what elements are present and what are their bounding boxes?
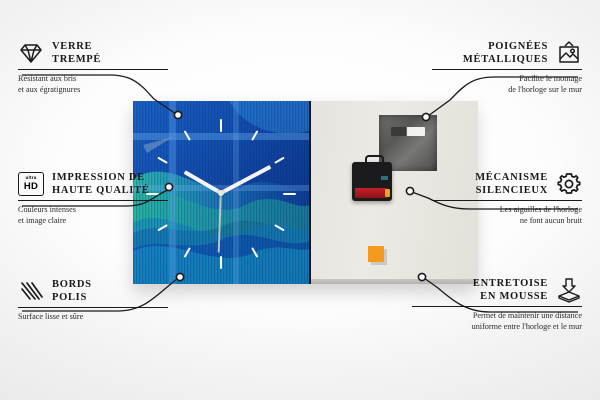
divider (18, 69, 168, 70)
feature-verre-trempe[interactable]: VERRE TREMPÉ Résistant aux bris et aux é… (18, 40, 168, 95)
movement-chip (381, 176, 388, 180)
feature-header: ENTRETOISE EN MOUSSE (412, 277, 582, 303)
divider (18, 200, 168, 201)
product-photo (133, 101, 476, 284)
polished-edge-icon (18, 278, 44, 304)
feature-header: BORDS POLIS (18, 278, 168, 304)
divider (412, 306, 582, 307)
feature-desc-line1: Couleurs intenses (18, 205, 168, 216)
battery-positive-terminal (385, 189, 390, 197)
divider (18, 307, 168, 308)
feature-desc-line2: et image claire (18, 216, 168, 227)
feature-desc-line1: Permet de maintenir une distance (412, 311, 582, 322)
feature-title: IMPRESSION DE HAUTE QUALITÉ (52, 171, 150, 197)
feature-desc-line1: Résistant aux bris (18, 74, 168, 85)
feature-mecanisme-silencieux[interactable]: MÉCANISME SILENCIEUX Les aiguilles de l'… (432, 171, 582, 226)
feature-title: VERRE TREMPÉ (52, 40, 101, 66)
infographic-canvas: VERRE TREMPÉ Résistant aux bris et aux é… (0, 0, 600, 400)
feature-header: VERRE TREMPÉ (18, 40, 168, 66)
feature-title: ENTRETOISE EN MOUSSE (473, 277, 548, 303)
feature-entretoise-en-mousse[interactable]: ENTRETOISE EN MOUSSE Permet de maintenir… (412, 277, 582, 332)
feature-desc-line2: uniforme entre l'horloge et le mur (412, 322, 582, 333)
clock-tick (220, 119, 222, 194)
ultra-hd-icon-main-text: HD (24, 182, 38, 192)
feature-title: POIGNÉES MÉTALLIQUES (463, 40, 548, 66)
battery (355, 188, 387, 198)
feature-desc-line1: Les aiguilles de l'horloge (432, 205, 582, 216)
divider (432, 200, 582, 201)
feature-desc-line2: de l'horloge sur le mur (432, 85, 582, 96)
feature-impression-haute-qualite[interactable]: ultra HD IMPRESSION DE HAUTE QUALITÉ Cou… (18, 171, 168, 226)
hanger-slot (391, 127, 425, 136)
clock-center-hub (218, 190, 224, 196)
feature-desc-line1: Surface lisse et sûre (18, 312, 168, 323)
diamond-icon (18, 40, 44, 66)
divider (432, 69, 582, 70)
movement-hanging-loop (365, 155, 384, 166)
picture-frame-hook-icon (556, 40, 582, 66)
feature-title: BORDS POLIS (52, 278, 92, 304)
feature-desc-line1: Facilite le montage (432, 74, 582, 85)
ultra-hd-icon: ultra HD (18, 172, 44, 196)
foam-spacer-icon (556, 277, 582, 303)
feature-title: MÉCANISME SILENCIEUX (475, 171, 548, 197)
feature-poignees-metalliques[interactable]: POIGNÉES MÉTALLIQUES Facilite le montage… (432, 40, 582, 95)
foam-spacer (368, 246, 384, 262)
feature-header: MÉCANISME SILENCIEUX (432, 171, 582, 197)
gear-icon (556, 171, 582, 197)
feature-header: POIGNÉES MÉTALLIQUES (432, 40, 582, 66)
feature-desc-line2: ne font aucun bruit (432, 216, 582, 227)
feature-header: ultra HD IMPRESSION DE HAUTE QUALITÉ (18, 171, 168, 197)
clock-movement (352, 162, 392, 201)
feature-desc-line2: et aux égratignures (18, 85, 168, 96)
feature-bords-polis[interactable]: BORDS POLIS Surface lisse et sûre (18, 278, 168, 323)
clock-tick (221, 193, 296, 195)
